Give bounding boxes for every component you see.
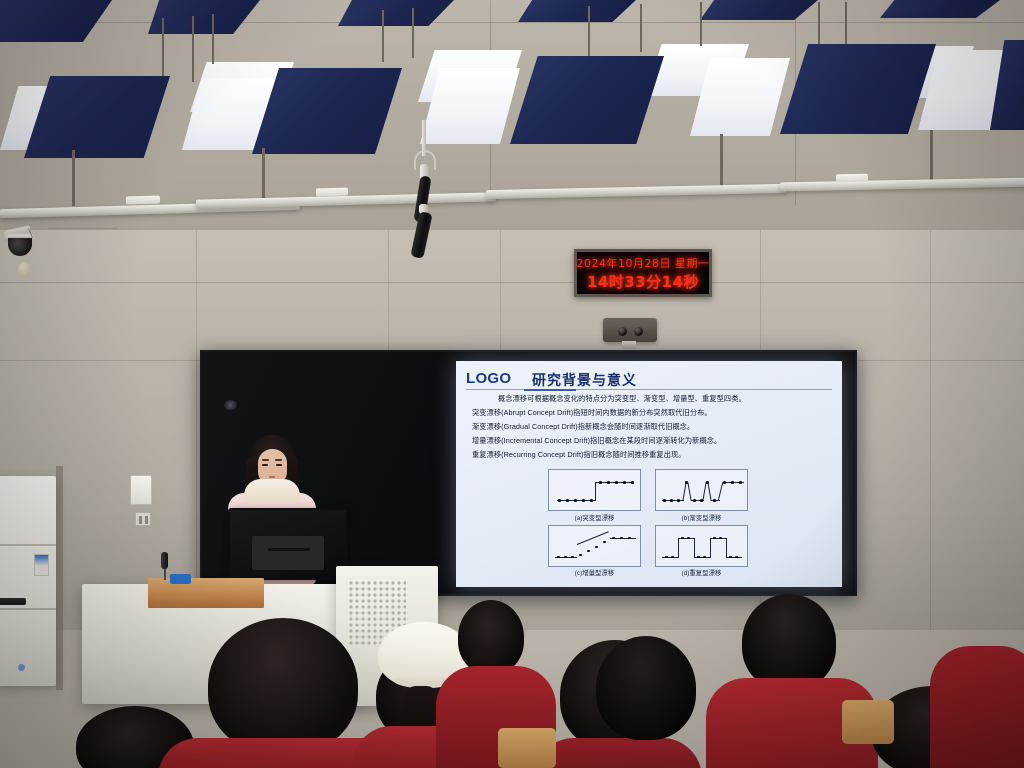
wall-knob — [18, 262, 31, 277]
audience-head — [742, 594, 836, 690]
podium-badge — [170, 574, 191, 584]
clock-date: 2024年10月28日 星期一 — [577, 255, 710, 271]
podium-microphone-icon — [161, 552, 168, 569]
equipment-cabinet — [0, 476, 56, 686]
slide-text-line: 重复漂移(Recurring Concept Drift)指旧概念随时间推移重复… — [472, 451, 830, 459]
figure-abrupt: (a)突变型漂移 — [548, 469, 641, 522]
figure-caption: (b)渐变型漂移 — [655, 513, 748, 522]
clock-time: 14时33分14秒 — [587, 271, 699, 292]
audience-head — [208, 618, 358, 754]
presentation-slide: LOGO 研究背景与意义 概念漂移可根据概念变化的特点分为突变型、渐变型、增量型… — [456, 361, 842, 587]
cabinet-vent — [0, 598, 26, 605]
security-camera-icon — [4, 222, 38, 262]
audience-shoulder — [930, 646, 1024, 768]
slide-text-line: 增量漂移(Incremental Concept Drift)指旧概念在某段时间… — [472, 437, 830, 445]
figure-caption: (c)增量型漂移 — [548, 568, 641, 577]
slide-text-line: 渐变漂移(Gradual Concept Drift)指新概念会随时间逐渐取代旧… — [472, 423, 830, 431]
lecture-capture-camera-icon — [603, 318, 657, 342]
wall-switch[interactable] — [130, 475, 152, 505]
audience-head — [596, 636, 696, 740]
slide-body: 概念漂移可根据概念变化的特点分为突变型、渐变型、增量型、重复型四类。 突变漂移(… — [472, 395, 830, 465]
figure-recurring: (d)重复型漂移 — [655, 525, 748, 578]
figure-caption: (a)突变型漂移 — [548, 513, 641, 522]
chair-back — [842, 700, 894, 744]
chair-back — [498, 728, 556, 768]
slide-text-line: 突变漂移(Abrupt Concept Drift)指短时间内数据的新分布突然取… — [472, 409, 830, 417]
slide-text-line: 概念漂移可根据概念变化的特点分为突变型、渐变型、增量型、重复型四类。 — [472, 395, 830, 403]
slide-header: LOGO 研究背景与意义 — [466, 369, 832, 391]
slide-title: 研究背景与意义 — [532, 370, 637, 390]
lecture-hall-photo: 2024年10月28日 星期一 14时33分14秒 LOGO 研究背景与意义 概… — [0, 0, 1024, 768]
figure-incremental: (c)增量型漂移 — [548, 525, 641, 578]
hanging-microphone-icon — [412, 120, 452, 250]
podium-wood-top — [148, 578, 264, 608]
audience-shoulder — [534, 738, 702, 768]
figure-caption: (d)重复型漂移 — [655, 568, 748, 577]
wall-socket[interactable] — [135, 512, 151, 526]
concept-drift-figures: (a)突变型漂移 — [548, 469, 748, 580]
slide-logo: LOGO — [466, 370, 511, 387]
led-clock: 2024年10月28日 星期一 14时33分14秒 — [574, 249, 712, 297]
figure-gradual: (b)渐变型漂移 — [655, 469, 748, 522]
cabinet-label — [34, 554, 49, 576]
